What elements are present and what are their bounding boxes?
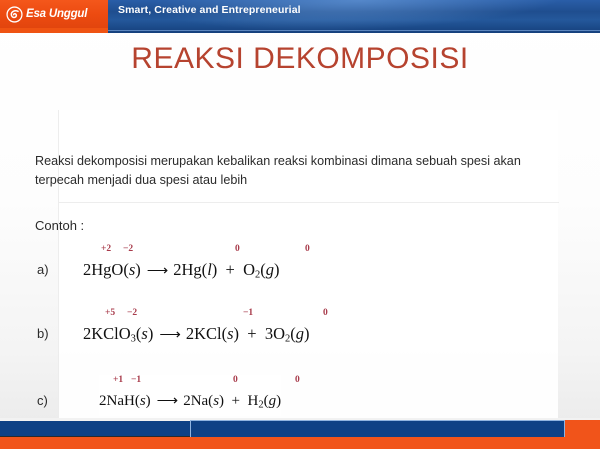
oxidation-number-line: +5 −2 −1 0 xyxy=(83,308,310,323)
footer-bar-left xyxy=(0,421,190,437)
brand-logo-text: Esa Unggul xyxy=(26,8,87,20)
oxidation-number: 0 xyxy=(235,244,240,254)
oxidation-number-line: +1 −1 0 0 xyxy=(99,375,281,390)
equation-figure: +5 −2 −1 0 2KClO3(s)⟶2KCl(s) + 3O2(g) xyxy=(83,308,310,350)
brand-logo[interactable]: Esa Unggul xyxy=(0,0,108,28)
oxidation-number-line: +2 −2 0 0 xyxy=(83,244,280,259)
equation-row: c) +1 −1 0 0 2NaH(s)⟶2Na(s) + H2(g) xyxy=(37,375,557,423)
equation-text: 2KClO3(s)⟶2KCl(s) + 3O2(g) xyxy=(83,323,310,350)
page-title: REAKSI DEKOMPOSISI xyxy=(90,42,510,76)
equation-text: 2HgO(s)⟶2Hg(l) + O2(g) xyxy=(83,259,280,286)
oxidation-number: +2 xyxy=(101,244,111,254)
slide-header: Esa Unggul Smart, Creative and Entrepren… xyxy=(0,0,600,33)
swirl-circle-icon xyxy=(6,6,23,23)
oxidation-number: 0 xyxy=(233,375,238,385)
equation-label: c) xyxy=(37,393,48,408)
oxidation-number: +1 xyxy=(113,375,123,385)
oxidation-number: −1 xyxy=(131,375,141,385)
equation-row: a) +2 −2 0 0 2HgO(s)⟶2Hg(l) + O2(g) xyxy=(37,244,557,292)
presentation-slide: Esa Unggul Smart, Creative and Entrepren… xyxy=(0,0,600,449)
equation-figure: +2 −2 0 0 2HgO(s)⟶2Hg(l) + O2(g) xyxy=(83,244,280,286)
examples-label: Contoh : xyxy=(35,218,84,233)
oxidation-number: −1 xyxy=(243,308,253,318)
reaction-arrow-icon: ⟶ xyxy=(141,260,174,282)
content-panel: Reaksi dekomposisi merupakan kebalikan r… xyxy=(58,110,558,422)
logo-underbar xyxy=(0,28,108,33)
brand-tagline: Smart, Creative and Entrepreneurial xyxy=(118,4,301,16)
reaction-arrow-icon: ⟶ xyxy=(153,324,186,346)
equation-label: a) xyxy=(37,262,49,277)
equation-label: b) xyxy=(37,326,49,341)
oxidation-number: 0 xyxy=(305,244,310,254)
equation-row: b) +5 −2 −1 0 2KClO3(s)⟶2KCl(s) + 3O2(g) xyxy=(37,308,557,356)
panel-divider xyxy=(59,202,559,203)
title-container: REAKSI DEKOMPOSISI xyxy=(90,42,510,76)
oxidation-number: −2 xyxy=(127,308,137,318)
oxidation-number: 0 xyxy=(295,375,300,385)
footer-accent-bottom xyxy=(0,437,600,449)
body-paragraph: Reaksi dekomposisi merupakan kebalikan r… xyxy=(35,152,557,190)
reaction-arrow-icon: ⟶ xyxy=(151,390,184,412)
footer-bar-main xyxy=(190,420,565,438)
equation-figure: +1 −1 0 0 2NaH(s)⟶2Na(s) + H2(g) xyxy=(99,375,281,416)
oxidation-number: 0 xyxy=(323,308,328,318)
oxidation-number: −2 xyxy=(123,244,133,254)
oxidation-number: +5 xyxy=(105,308,115,318)
equation-text: 2NaH(s)⟶2Na(s) + H2(g) xyxy=(99,390,281,416)
